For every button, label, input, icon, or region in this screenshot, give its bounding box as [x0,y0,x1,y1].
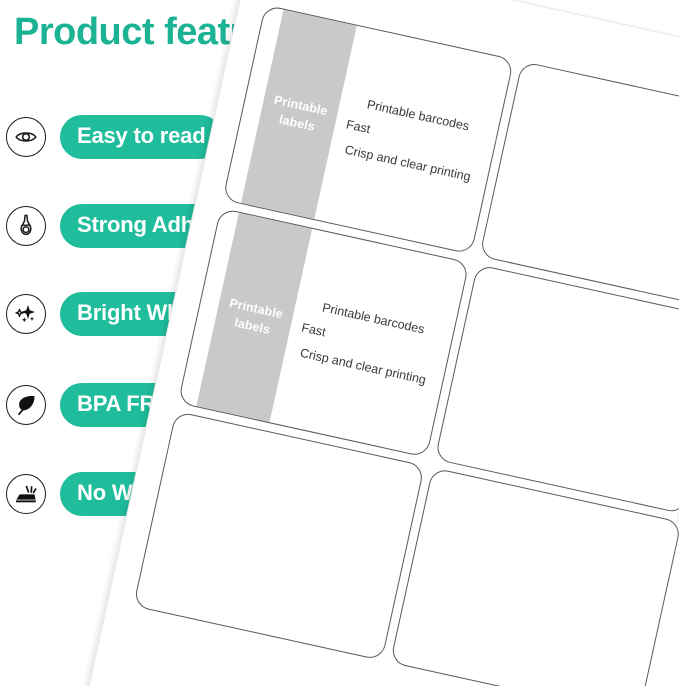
label-text-block: Printable barcodes Fast Crisp and clear … [294,292,439,392]
label-strip: Printable labels [196,213,312,422]
glue-bottle-icon [6,206,46,246]
feature-pill-label: Easy to read [60,115,222,159]
label-text-block: Printable barcodes Fast Crisp and clear … [338,89,483,189]
label-strip: Printable labels [241,10,357,219]
label-sheet: Printable labels Printable barcodes Fast… [80,0,679,686]
sparkles-icon [6,294,46,334]
eye-icon [6,117,46,157]
product-feature-graphic: Product features Easy to read Strong Adh… [0,0,679,686]
label-strip-text: Printable labels [268,91,329,138]
label-strip-text: Printable labels [224,294,285,341]
feature-row-easy-to-read: Easy to read [6,115,222,159]
leaf-icon [6,385,46,425]
iron-icon [6,474,46,514]
